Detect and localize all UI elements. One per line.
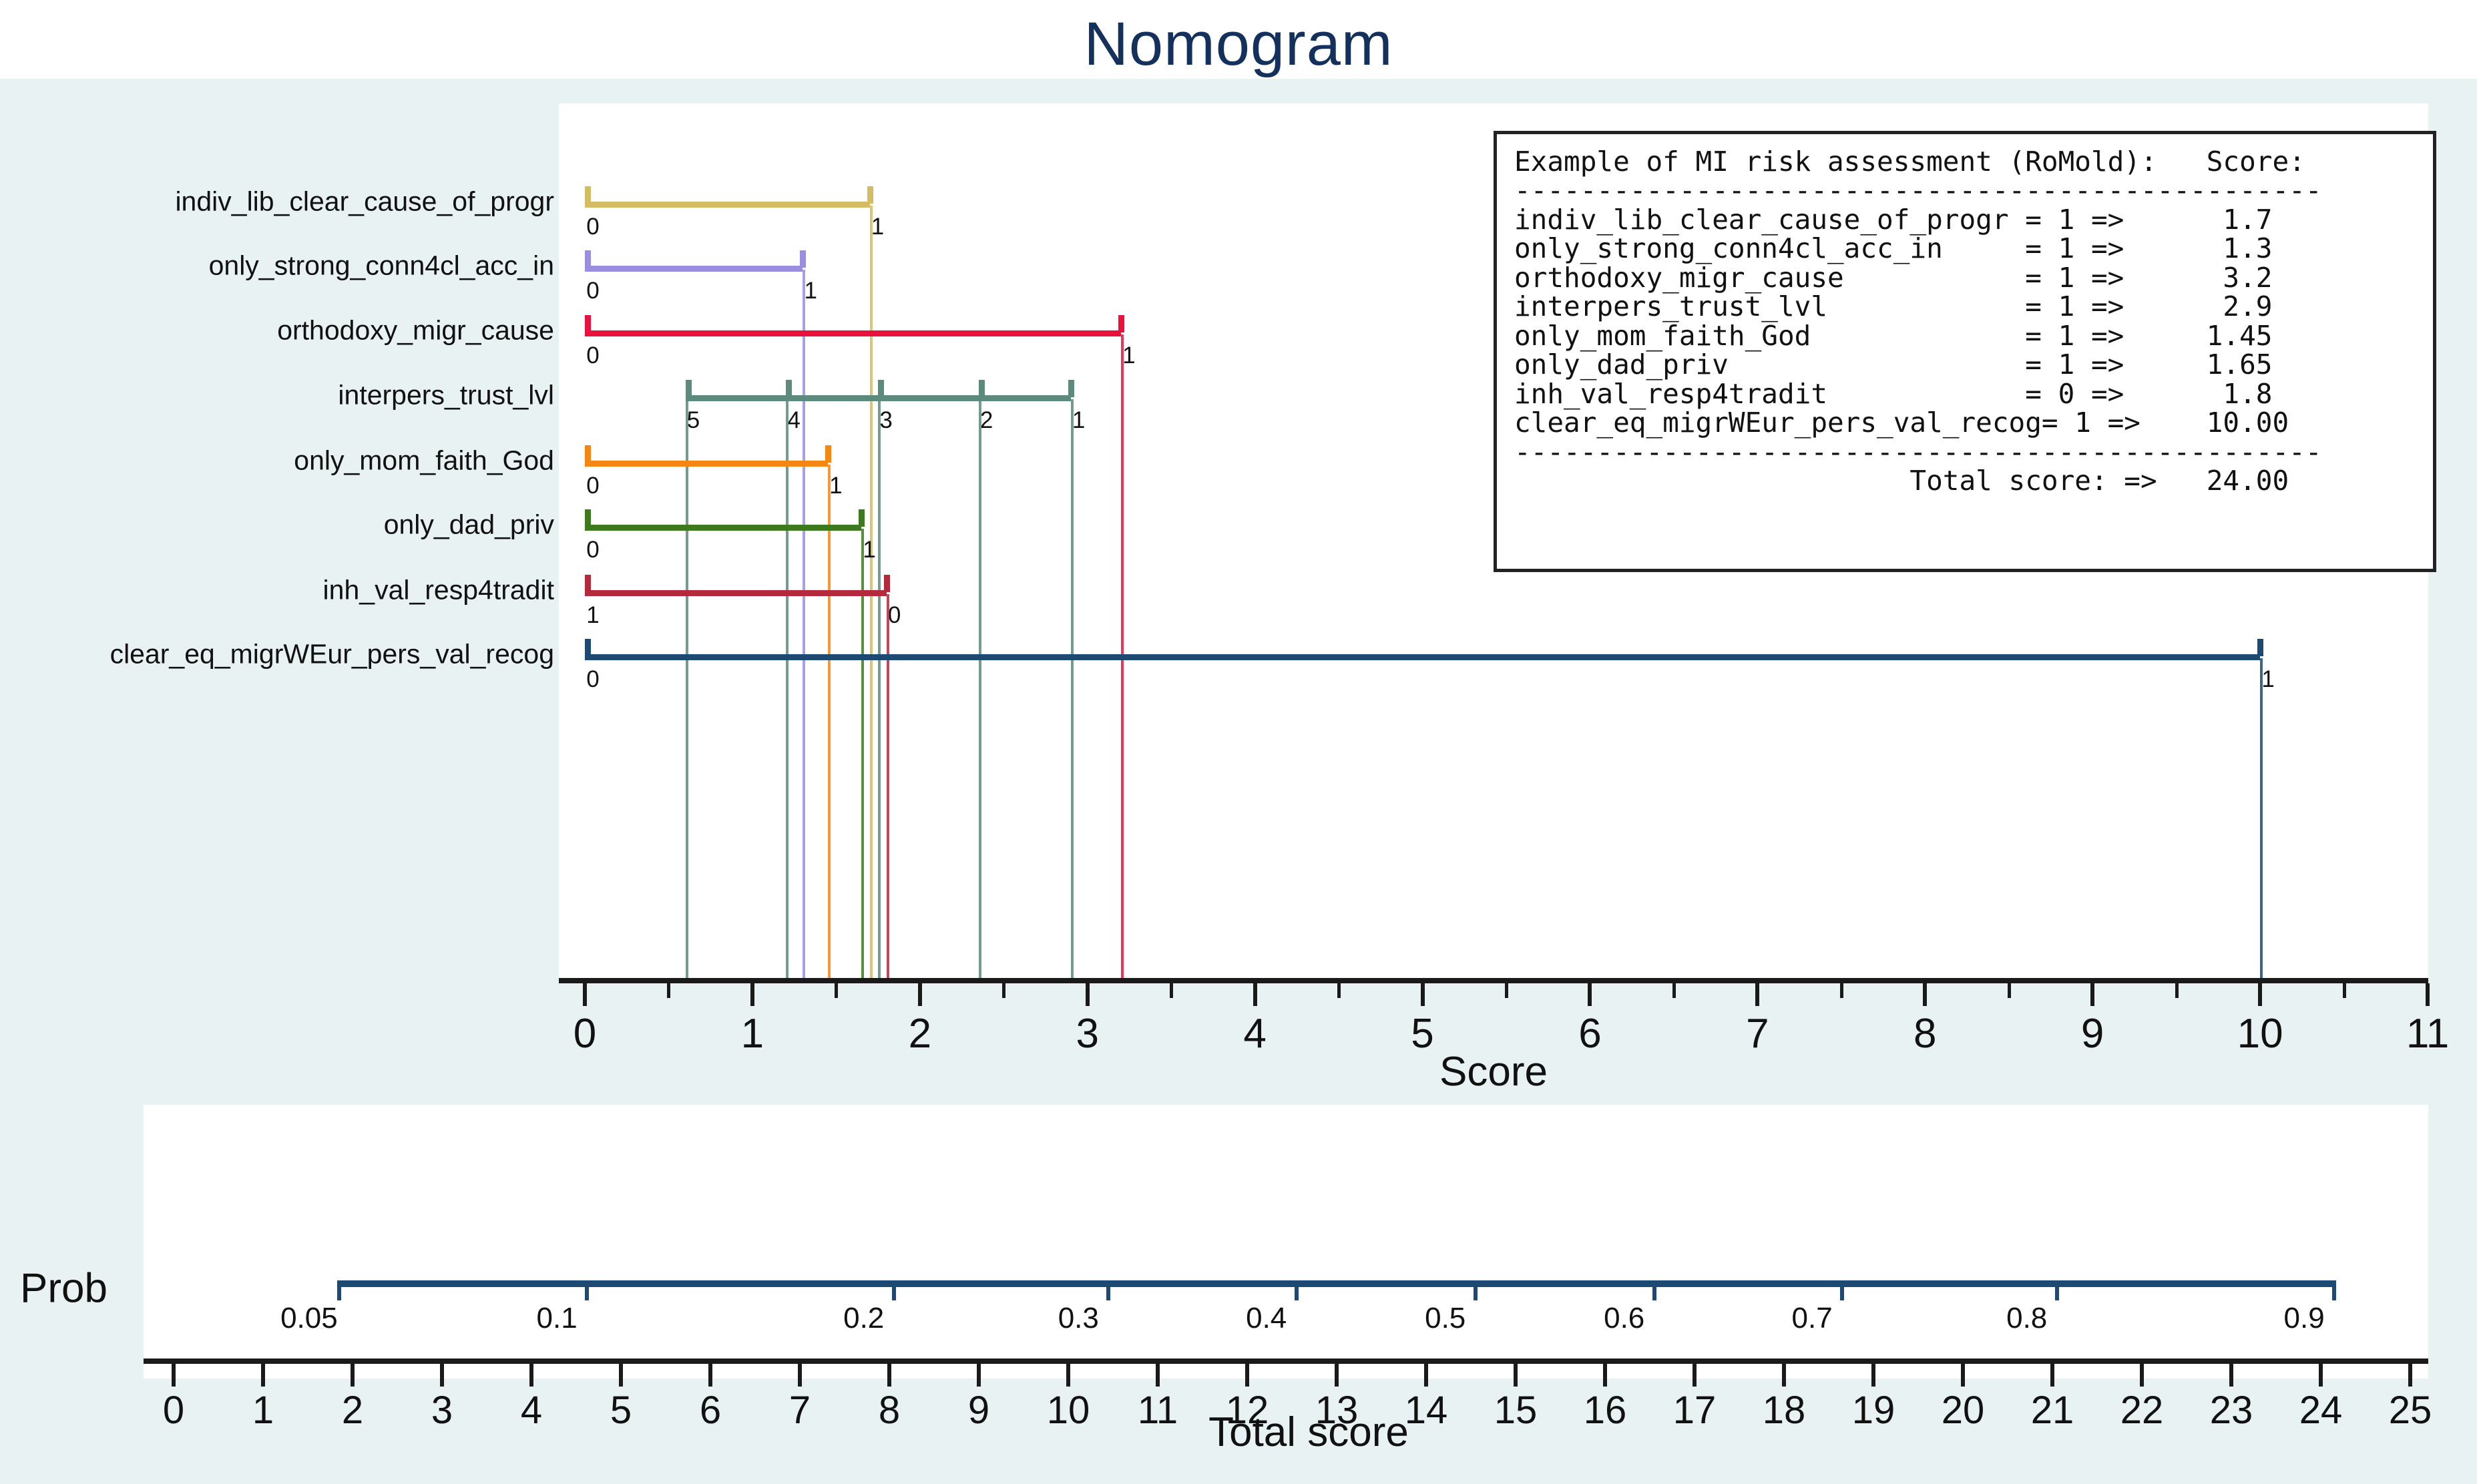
total-score-tick-20 <box>1961 1364 1965 1387</box>
predictor-tick-6-1 <box>884 575 890 592</box>
score-minor-tick-3 <box>1170 983 1173 998</box>
score-tick-label-9: 9 <box>2081 1010 2104 1057</box>
score-minor-tick-8 <box>2008 983 2011 998</box>
score-tick-label-4: 4 <box>1243 1010 1266 1057</box>
total-score-tick-label-2: 2 <box>342 1388 363 1433</box>
total-score-tick-label-16: 16 <box>1584 1388 1627 1433</box>
total-score-tick-label-23: 23 <box>2210 1388 2253 1433</box>
total-score-tick-2 <box>351 1364 355 1387</box>
predictor-tick-1-1 <box>800 250 806 268</box>
predictor-tick-5-0 <box>585 509 591 527</box>
predictor-tick-7-0 <box>585 639 591 656</box>
predictor-tick-2-0 <box>585 315 591 332</box>
total-score-panel <box>144 1105 2428 1379</box>
total-score-tick-9 <box>977 1364 981 1387</box>
predictor-tick-3-3 <box>979 380 985 397</box>
predictor-tick-label-5-0: 0 <box>586 537 599 563</box>
predictor-tick-1-0 <box>585 250 591 268</box>
score-tick-3 <box>1086 983 1090 1006</box>
predictor-scale-7 <box>585 654 2260 660</box>
predictor-dropline-4-1 <box>828 465 831 978</box>
total-score-tick-11 <box>1156 1364 1160 1387</box>
predictor-dropline-3-3 <box>979 399 981 978</box>
score-minor-tick-9 <box>2175 983 2179 998</box>
total-score-tick-7 <box>798 1364 802 1387</box>
total-score-tick-1 <box>261 1364 265 1387</box>
prob-tick-label-0: 0.05 <box>280 1302 338 1335</box>
predictor-scale-5 <box>585 525 861 531</box>
predictor-tick-5-1 <box>859 509 865 527</box>
prob-tick-label-2: 0.2 <box>843 1302 884 1335</box>
total-score-tick-label-0: 0 <box>163 1388 184 1433</box>
legend-line-1: ----------------------------------------… <box>1514 176 2416 205</box>
predictor-tick-label-3-1: 4 <box>787 407 800 434</box>
predictor-tick-label-1-1: 1 <box>804 278 817 304</box>
prob-tick-4 <box>1295 1280 1299 1300</box>
predictor-tick-label-3-2: 3 <box>879 407 892 434</box>
total-score-tick-15 <box>1514 1364 1518 1387</box>
predictor-label-column: indiv_lib_clear_cause_of_progronly_stron… <box>0 0 554 978</box>
predictor-tick-3-2 <box>878 380 884 397</box>
total-score-tick-13 <box>1335 1364 1339 1387</box>
predictor-dropline-1-1 <box>803 270 805 978</box>
predictor-label-1: only_strong_conn4cl_acc_in <box>209 250 554 282</box>
predictor-scale-6 <box>585 590 887 596</box>
predictor-tick-4-0 <box>585 445 591 463</box>
predictor-tick-label-7-0: 0 <box>586 666 599 693</box>
predictor-tick-label-1-0: 0 <box>586 278 599 304</box>
prob-tick-6 <box>1652 1280 1656 1300</box>
prob-tick-label-5: 0.5 <box>1425 1302 1466 1335</box>
predictor-dropline-3-2 <box>878 399 881 978</box>
score-minor-tick-1 <box>835 983 838 998</box>
score-tick-label-11: 11 <box>2406 1010 2449 1057</box>
score-tick-label-6: 6 <box>1578 1010 1601 1057</box>
predictor-tick-6-0 <box>585 575 591 592</box>
total-score-tick-label-22: 22 <box>2120 1388 2164 1433</box>
predictor-scale-0 <box>585 202 870 208</box>
predictor-tick-label-0-1: 1 <box>871 214 884 240</box>
total-score-tick-label-4: 4 <box>521 1388 542 1433</box>
predictor-tick-3-1 <box>786 380 792 397</box>
total-score-tick-0 <box>172 1364 176 1387</box>
predictor-tick-label-6-1: 0 <box>888 602 901 629</box>
total-score-tick-24 <box>2319 1364 2323 1387</box>
total-score-tick-label-14: 14 <box>1405 1388 1448 1433</box>
score-tick-label-2: 2 <box>909 1010 931 1057</box>
predictor-tick-4-1 <box>825 445 831 463</box>
legend-line-9: clear_eq_migrWEur_pers_val_recog= 1 => 1… <box>1514 409 2416 437</box>
predictor-label-2: orthodoxy_migr_cause <box>277 315 554 346</box>
prob-tick-label-8: 0.8 <box>2006 1302 2047 1335</box>
prob-tick-2 <box>892 1280 896 1300</box>
predictor-tick-label-4-1: 1 <box>829 473 842 499</box>
score-axis-label: Score <box>1439 1048 1548 1095</box>
predictor-label-7: clear_eq_migrWEur_pers_val_recog <box>110 639 554 670</box>
legend-line-5: interpers_trust_lvl = 1 => 2.9 <box>1514 292 2416 321</box>
total-score-tick-label-15: 15 <box>1494 1388 1538 1433</box>
predictor-scale-4 <box>585 461 828 467</box>
total-score-tick-19 <box>1871 1364 1875 1387</box>
score-tick-4 <box>1253 983 1257 1006</box>
nomogram-figure: Nomogram indiv_lib_clear_cause_of_progro… <box>0 0 2477 1484</box>
total-score-tick-label-5: 5 <box>610 1388 632 1433</box>
legend-line-7: only_dad_priv = 1 => 1.65 <box>1514 350 2416 379</box>
predictor-tick-label-0-0: 0 <box>586 214 599 240</box>
legend-line-2: indiv_lib_clear_cause_of_progr = 1 => 1.… <box>1514 206 2416 234</box>
total-score-tick-label-19: 19 <box>1852 1388 1895 1433</box>
total-score-tick-23 <box>2229 1364 2233 1387</box>
total-score-tick-21 <box>2050 1364 2054 1387</box>
total-score-tick-5 <box>619 1364 623 1387</box>
legend-line-11: Total score: => 24.00 <box>1514 467 2416 495</box>
total-score-tick-label-17: 17 <box>1673 1388 1717 1433</box>
predictor-scale-2 <box>585 330 1121 336</box>
score-tick-11 <box>2426 983 2430 1006</box>
predictor-dropline-3-4 <box>1071 399 1074 978</box>
predictor-label-6: inh_val_resp4tradit <box>323 575 554 606</box>
predictor-dropline-3-0 <box>686 399 688 978</box>
predictor-dropline-6-1 <box>887 594 889 978</box>
prob-tick-label-4: 0.4 <box>1246 1302 1287 1335</box>
predictor-scale-1 <box>585 266 803 272</box>
predictor-tick-label-4-0: 0 <box>586 473 599 499</box>
total-score-tick-label-3: 3 <box>431 1388 453 1433</box>
prob-tick-7 <box>1840 1280 1844 1300</box>
total-score-axis-line <box>144 1358 2428 1364</box>
prob-tick-label-1: 0.1 <box>536 1302 577 1335</box>
total-score-tick-label-21: 21 <box>2031 1388 2074 1433</box>
score-tick-label-8: 8 <box>1913 1010 1936 1057</box>
legend-line-6: only_mom_faith_God = 1 => 1.45 <box>1514 322 2416 350</box>
predictor-label-3: interpers_trust_lvl <box>338 380 554 411</box>
score-tick-label-3: 3 <box>1076 1010 1098 1057</box>
total-score-tick-18 <box>1782 1364 1786 1387</box>
legend-line-4: orthodoxy_migr_cause = 1 => 3.2 <box>1514 264 2416 292</box>
legend-line-3: only_strong_conn4cl_acc_in = 1 => 1.3 <box>1514 234 2416 263</box>
total-score-tick-label-20: 20 <box>1942 1388 1985 1433</box>
prob-tick-label-6: 0.6 <box>1604 1302 1644 1335</box>
legend-line-0: Example of MI risk assessment (RoMold): … <box>1514 148 2416 176</box>
total-score-tick-label-10: 10 <box>1047 1388 1090 1433</box>
total-score-tick-4 <box>529 1364 533 1387</box>
total-score-tick-10 <box>1066 1364 1070 1387</box>
total-score-axis-label: Total score <box>1208 1409 1409 1456</box>
predictor-dropline-7-1 <box>2260 658 2263 978</box>
total-score-tick-label-18: 18 <box>1763 1388 1806 1433</box>
score-tick-7 <box>1755 983 1759 1006</box>
score-minor-tick-0 <box>667 983 670 998</box>
total-score-tick-label-7: 7 <box>789 1388 811 1433</box>
total-score-tick-label-1: 1 <box>252 1388 274 1433</box>
predictor-tick-0-0 <box>585 186 591 204</box>
total-score-tick-3 <box>440 1364 444 1387</box>
predictor-tick-7-1 <box>2257 639 2263 656</box>
predictor-tick-label-3-3: 2 <box>980 407 993 434</box>
total-score-tick-8 <box>887 1364 891 1387</box>
total-score-tick-label-24: 24 <box>2299 1388 2343 1433</box>
score-tick-10 <box>2258 983 2262 1006</box>
total-score-tick-label-11: 11 <box>1138 1388 1178 1433</box>
score-tick-label-10: 10 <box>2237 1010 2283 1057</box>
score-tick-label-7: 7 <box>1746 1010 1769 1057</box>
score-tick-0 <box>583 983 587 1006</box>
predictor-tick-3-4 <box>1068 380 1074 397</box>
prob-tick-3 <box>1106 1280 1110 1300</box>
legend-line-10: ----------------------------------------… <box>1514 438 2416 467</box>
score-minor-tick-7 <box>1840 983 1843 998</box>
score-minor-tick-6 <box>1672 983 1676 998</box>
total-score-tick-label-8: 8 <box>879 1388 900 1433</box>
predictor-dropline-3-1 <box>786 399 789 978</box>
predictor-tick-label-2-0: 0 <box>586 342 599 369</box>
score-minor-tick-4 <box>1337 983 1341 998</box>
score-tick-6 <box>1588 983 1592 1006</box>
score-tick-label-1: 1 <box>741 1010 764 1057</box>
prob-tick-8 <box>2055 1280 2059 1300</box>
total-score-tick-14 <box>1424 1364 1428 1387</box>
score-tick-label-0: 0 <box>574 1010 596 1057</box>
legend-line-8: inh_val_resp4tradit = 0 => 1.8 <box>1514 380 2416 409</box>
score-tick-2 <box>918 983 922 1006</box>
prob-tick-label-9: 0.9 <box>2284 1302 2325 1335</box>
prob-tick-0 <box>337 1280 341 1300</box>
predictor-tick-0-1 <box>867 186 873 204</box>
prob-tick-5 <box>1474 1280 1478 1300</box>
prob-tick-9 <box>2332 1280 2336 1300</box>
predictor-tick-label-5-1: 1 <box>863 537 875 563</box>
score-tick-1 <box>750 983 754 1006</box>
total-score-tick-16 <box>1603 1364 1607 1387</box>
risk-assessment-legend: Example of MI risk assessment (RoMold): … <box>1494 131 2436 572</box>
score-minor-tick-10 <box>2343 983 2346 998</box>
score-axis-line <box>559 978 2428 983</box>
total-score-tick-6 <box>708 1364 712 1387</box>
total-score-tick-22 <box>2140 1364 2144 1387</box>
prob-axis-label: Prob <box>20 1265 107 1312</box>
predictor-label-0: indiv_lib_clear_cause_of_progr <box>175 186 554 218</box>
predictor-tick-2-1 <box>1118 315 1124 332</box>
predictor-label-5: only_dad_priv <box>384 509 554 541</box>
total-score-tick-25 <box>2408 1364 2412 1387</box>
total-score-tick-17 <box>1693 1364 1697 1387</box>
score-minor-tick-2 <box>1002 983 1005 998</box>
predictor-tick-label-7-1: 1 <box>2261 666 2274 693</box>
total-score-tick-12 <box>1245 1364 1249 1387</box>
total-score-tick-label-25: 25 <box>2389 1388 2432 1433</box>
score-minor-tick-5 <box>1505 983 1508 998</box>
prob-tick-label-3: 0.3 <box>1058 1302 1099 1335</box>
total-score-tick-label-6: 6 <box>700 1388 721 1433</box>
prob-tick-label-7: 0.7 <box>1792 1302 1833 1335</box>
score-tick-5 <box>1421 983 1425 1006</box>
predictor-tick-label-2-1: 1 <box>1122 342 1135 369</box>
predictor-tick-label-3-0: 5 <box>687 407 700 434</box>
total-score-tick-label-9: 9 <box>968 1388 989 1433</box>
prob-scale-line <box>339 1280 2334 1287</box>
score-tick-label-5: 5 <box>1411 1010 1433 1057</box>
predictor-tick-label-3-4: 1 <box>1072 407 1085 434</box>
predictor-tick-3-0 <box>686 380 692 397</box>
predictor-label-4: only_mom_faith_God <box>294 445 554 477</box>
predictor-tick-label-6-0: 1 <box>586 602 599 629</box>
score-tick-9 <box>2090 983 2094 1006</box>
prob-tick-1 <box>585 1280 589 1300</box>
score-tick-8 <box>1923 983 1927 1006</box>
